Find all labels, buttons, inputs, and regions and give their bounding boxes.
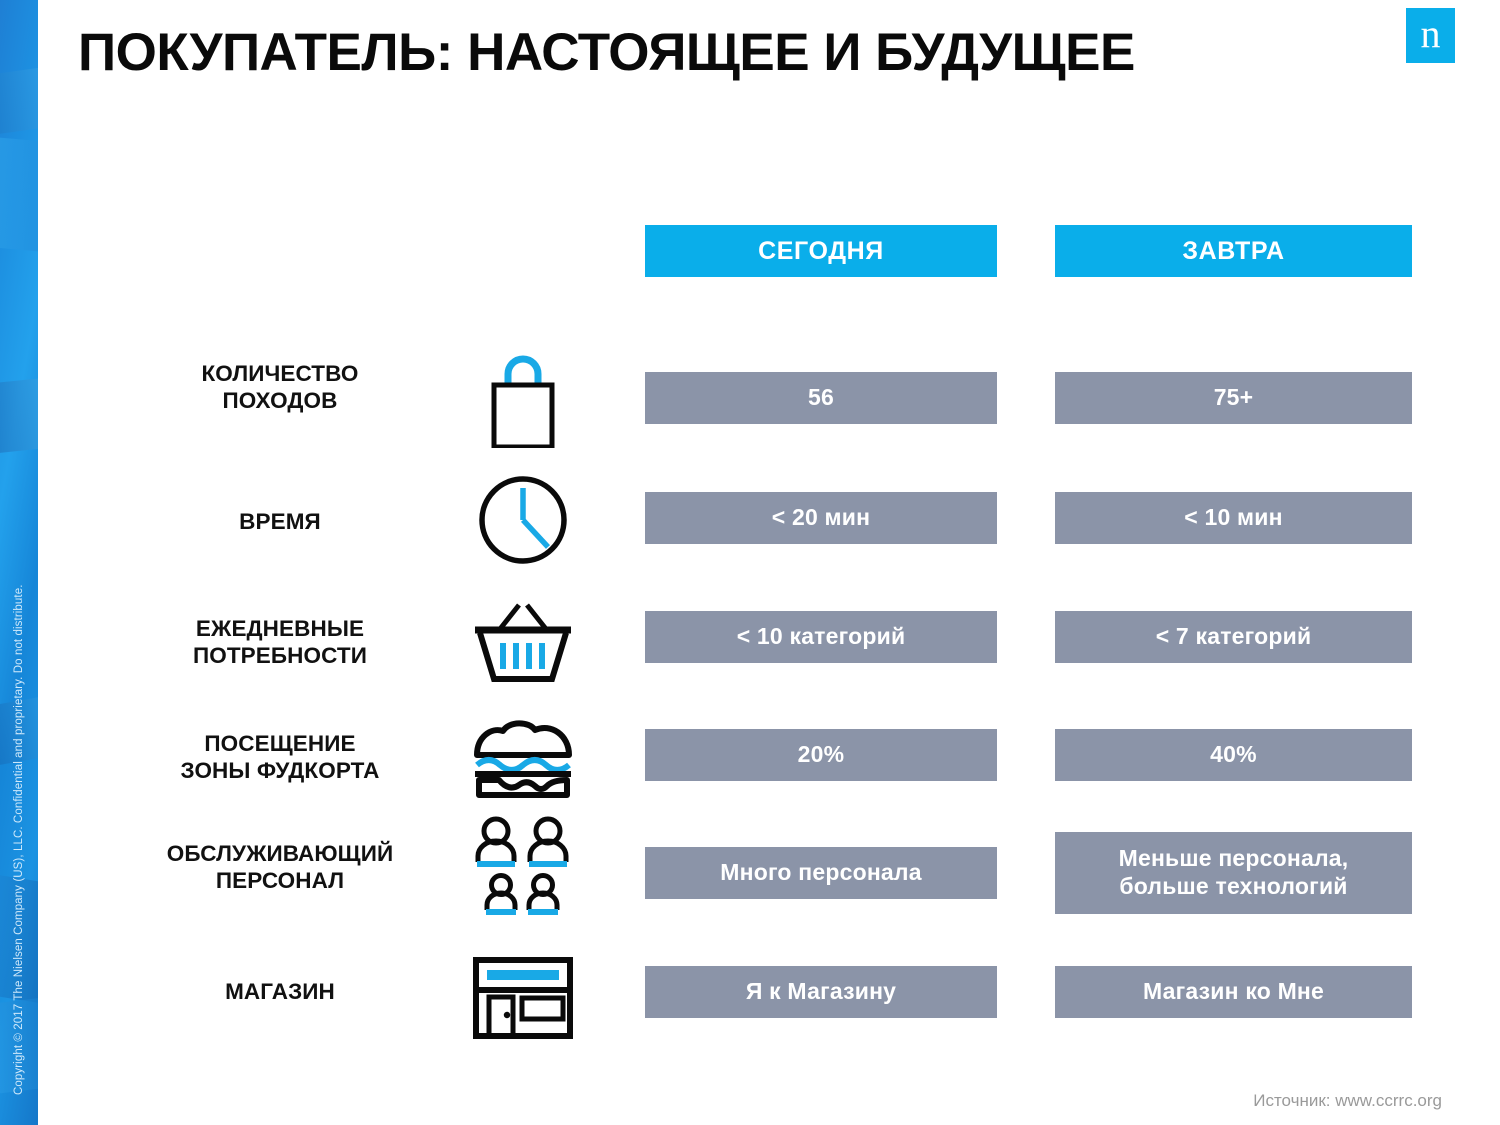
cell-today-foodcourt: 20%	[645, 729, 997, 781]
source-note: Источник: www.ccrrc.org	[1253, 1091, 1442, 1111]
row-label-foodcourt: ПОСЕЩЕНИЕ ЗОНЫ ФУДКОРТА	[105, 730, 455, 785]
cell-tomorrow-staff: Меньше персонала, больше технологий	[1055, 832, 1412, 914]
cell-tomorrow-store: Магазин ко Мне	[1055, 966, 1412, 1018]
row-label-daily-needs: ЕЖЕДНЕВНЫЕ ПОТРЕБНОСТИ	[105, 615, 455, 670]
cell-today-trips: 56	[645, 372, 997, 424]
staff-people-icon	[455, 812, 590, 922]
cell-today-store: Я к Магазину	[645, 966, 997, 1018]
sandwich-icon	[455, 712, 590, 804]
slide-title: ПОКУПАТЕЛЬ: НАСТОЯЩЕЕ И БУДУЩЕЕ	[78, 22, 1135, 83]
row-label-staff: ОБСЛУЖИВАЮЩИЙ ПЕРСОНАЛ	[95, 840, 465, 895]
cell-tomorrow-time: < 10 мин	[1055, 492, 1412, 544]
shopping-basket-icon	[455, 592, 590, 697]
cell-today-time: < 20 мин	[645, 492, 997, 544]
cell-tomorrow-trips: 75+	[1055, 372, 1412, 424]
cell-tomorrow-foodcourt: 40%	[1055, 729, 1412, 781]
cell-tomorrow-daily-needs: < 7 категорий	[1055, 611, 1412, 663]
copyright-notice: Copyright © 2017 The Nielsen Company (US…	[0, 0, 38, 1125]
storefront-icon	[455, 950, 590, 1045]
row-label-store: МАГАЗИН	[105, 978, 455, 1005]
column-header-tomorrow: ЗАВТРА	[1055, 225, 1412, 277]
nielsen-logo: n	[1406, 8, 1455, 63]
row-label-trips: КОЛИЧЕСТВО ПОХОДОВ	[105, 360, 455, 415]
cell-today-daily-needs: < 10 категорий	[645, 611, 997, 663]
column-header-today: СЕГОДНЯ	[645, 225, 997, 277]
row-label-time: ВРЕМЯ	[105, 508, 455, 535]
nielsen-logo-letter: n	[1421, 14, 1441, 54]
shopping-bag-icon	[455, 340, 590, 455]
cell-today-staff: Много персонала	[645, 847, 997, 899]
clock-icon	[455, 465, 590, 575]
